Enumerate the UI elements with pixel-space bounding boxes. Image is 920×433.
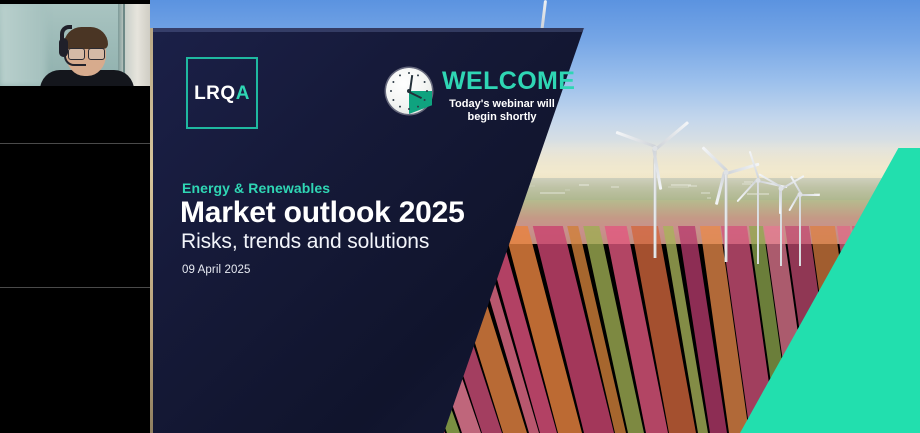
clock-icon: [386, 68, 432, 114]
clock-tick: [408, 108, 410, 110]
welcome-title: WELCOME: [442, 69, 575, 94]
clock-center-pin: [407, 89, 411, 93]
clock-tick: [392, 99, 394, 101]
landscape-detail: [611, 186, 619, 188]
wind-turbine: [776, 186, 786, 266]
slide-left-edge: [150, 28, 153, 433]
landscape-detail: [668, 186, 689, 188]
navy-top-highlight: [150, 28, 586, 32]
clock-tick: [408, 72, 410, 74]
wind-turbine: [753, 178, 763, 264]
turbine-hub: [724, 170, 729, 175]
lrqa-logo-main: LRQ: [194, 83, 236, 104]
welcome-subtitle-line2: begin shortly: [442, 111, 562, 124]
wind-turbine: [721, 170, 731, 262]
turbine-mast: [725, 170, 728, 262]
slide-eyebrow: Energy & Renewables: [182, 180, 330, 196]
clock-tick: [390, 90, 392, 92]
turbine-hub: [756, 178, 761, 183]
lrqa-logo-text: LRQA: [194, 84, 250, 103]
headset-band: [60, 25, 72, 41]
landscape-detail: [540, 192, 565, 194]
participant-tile[interactable]: [0, 0, 150, 144]
slide-date: 09 April 2025: [182, 264, 250, 276]
landscape-detail: [707, 197, 712, 199]
webinar-screen: LRQA WELCOME Today's webinar will begin …: [0, 0, 920, 433]
landscape-detail: [701, 192, 710, 194]
participant-tile[interactable]: [0, 288, 150, 433]
wind-turbine: [795, 192, 805, 266]
landscape-detail: [565, 189, 570, 191]
participant-tile[interactable]: [0, 144, 150, 288]
welcome-subtitle: Today's webinar will begin shortly: [442, 98, 562, 124]
participant-filmstrip: [0, 0, 150, 433]
turbine-blade: [800, 194, 820, 196]
welcome-text: WELCOME Today's webinar will begin short…: [442, 68, 575, 124]
turbine-hub: [653, 146, 658, 151]
participant-video: [0, 4, 150, 86]
clock-tick: [424, 99, 426, 101]
shared-slide: LRQA WELCOME Today's webinar will begin …: [150, 0, 920, 433]
turbine-blade: [779, 188, 781, 214]
wind-turbine: [650, 146, 660, 258]
clock-tick: [426, 90, 428, 92]
welcome-block: WELCOME Today's webinar will begin short…: [386, 68, 575, 124]
welcome-subtitle-line1: Today's webinar will: [442, 98, 562, 111]
slide-headline: Market outlook 2025: [180, 196, 465, 230]
landscape-detail: [579, 184, 589, 186]
slide-subhead: Risks, trends and solutions: [181, 230, 429, 254]
clock-tick: [392, 81, 394, 83]
clock-tick: [417, 106, 419, 108]
turbine-hub: [779, 186, 784, 191]
turbine-hub: [798, 192, 803, 197]
turbine-mast: [799, 192, 801, 266]
lrqa-logo: LRQA: [186, 57, 258, 129]
clock-tick: [424, 81, 426, 83]
clock-tick: [417, 74, 419, 76]
clock-tick: [399, 106, 401, 108]
lrqa-logo-mark: A: [236, 83, 250, 104]
wall-blur: [0, 4, 46, 86]
clock-tick: [399, 74, 401, 76]
landscape-detail: [671, 184, 691, 186]
turbine-mast: [757, 178, 759, 264]
